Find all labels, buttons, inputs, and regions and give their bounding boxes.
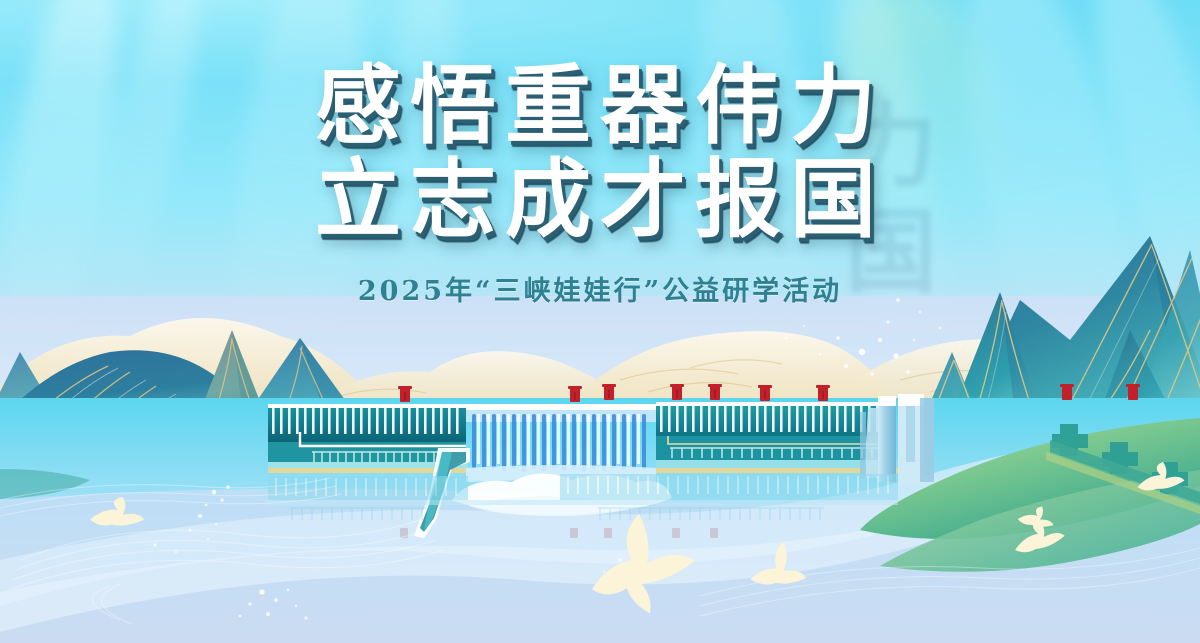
poster-subtitle: 2025年“三峡娃娃行”公益研学活动 [0, 269, 1200, 308]
title-block: 感悟重器伟力 立志成才报国 2025年“三峡娃娃行”公益研学活动 [0, 64, 1200, 308]
title-line-1: 感悟重器伟力 [0, 64, 1200, 148]
poster-canvas: 力 国 [0, 0, 1200, 643]
title-line-2: 立志成才报国 [0, 158, 1200, 242]
